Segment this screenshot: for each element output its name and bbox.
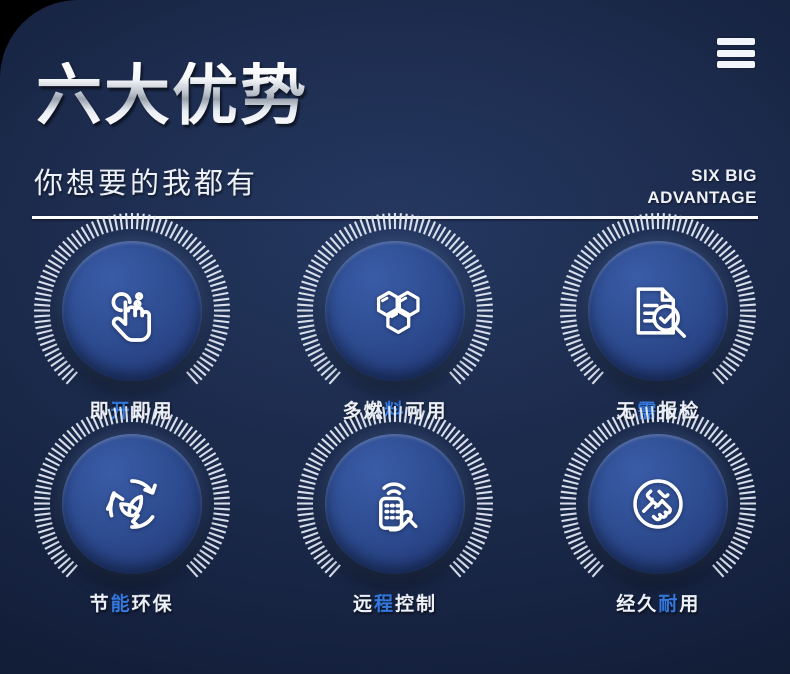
feature-icon-circle[interactable] [62, 241, 202, 381]
page-subtitle: 你想要的我都有 [34, 160, 258, 202]
remote-control-hand-icon [360, 469, 430, 539]
feature-icon-circle[interactable] [62, 434, 202, 574]
menu-bar-2 [717, 50, 755, 57]
feature-dial [294, 429, 496, 579]
honeycomb-molecule-icon [360, 276, 430, 346]
promo-panel: 六大优势 你想要的我都有 SIX BIG ADVANTAGE 即开即用 [0, 0, 790, 674]
eyebrow-line-2: ADVANTAGE [647, 187, 757, 209]
feature-dial [557, 236, 759, 386]
feature-dial [557, 429, 759, 579]
document-magnifier-check-icon [623, 276, 693, 346]
page-title: 六大优势 [36, 62, 308, 128]
feature-dial [31, 429, 233, 579]
feature-dial [31, 236, 233, 386]
feature-grid: 即开即用 多燃料可用 [0, 236, 790, 616]
menu-bar-3 [717, 61, 755, 68]
feature-icon-circle[interactable] [325, 241, 465, 381]
recycle-leaf-icon [97, 469, 167, 539]
handshake-globe-icon [623, 469, 693, 539]
eyebrow-line-1: SIX BIG [647, 165, 757, 187]
feature-dial [294, 236, 496, 386]
feature-item-no-inspection[interactable]: 无需报检 [527, 236, 790, 423]
feature-icon-circle[interactable] [588, 434, 728, 574]
feature-icon-circle[interactable] [325, 434, 465, 574]
menu-bar-1 [717, 38, 755, 45]
feature-item-multi-fuel[interactable]: 多燃料可用 [263, 236, 526, 423]
feature-item-durable[interactable]: 经久耐用 [527, 429, 790, 616]
hamburger-menu-icon[interactable] [717, 38, 755, 68]
feature-item-remote-control[interactable]: 远程控制 [263, 429, 526, 616]
feature-icon-circle[interactable] [588, 241, 728, 381]
feature-item-instant-use[interactable]: 即开即用 [0, 236, 263, 423]
tap-finger-icon [97, 276, 167, 346]
feature-item-energy-saving[interactable]: 节能环保 [0, 429, 263, 616]
eyebrow-text: SIX BIG ADVANTAGE [647, 165, 757, 209]
